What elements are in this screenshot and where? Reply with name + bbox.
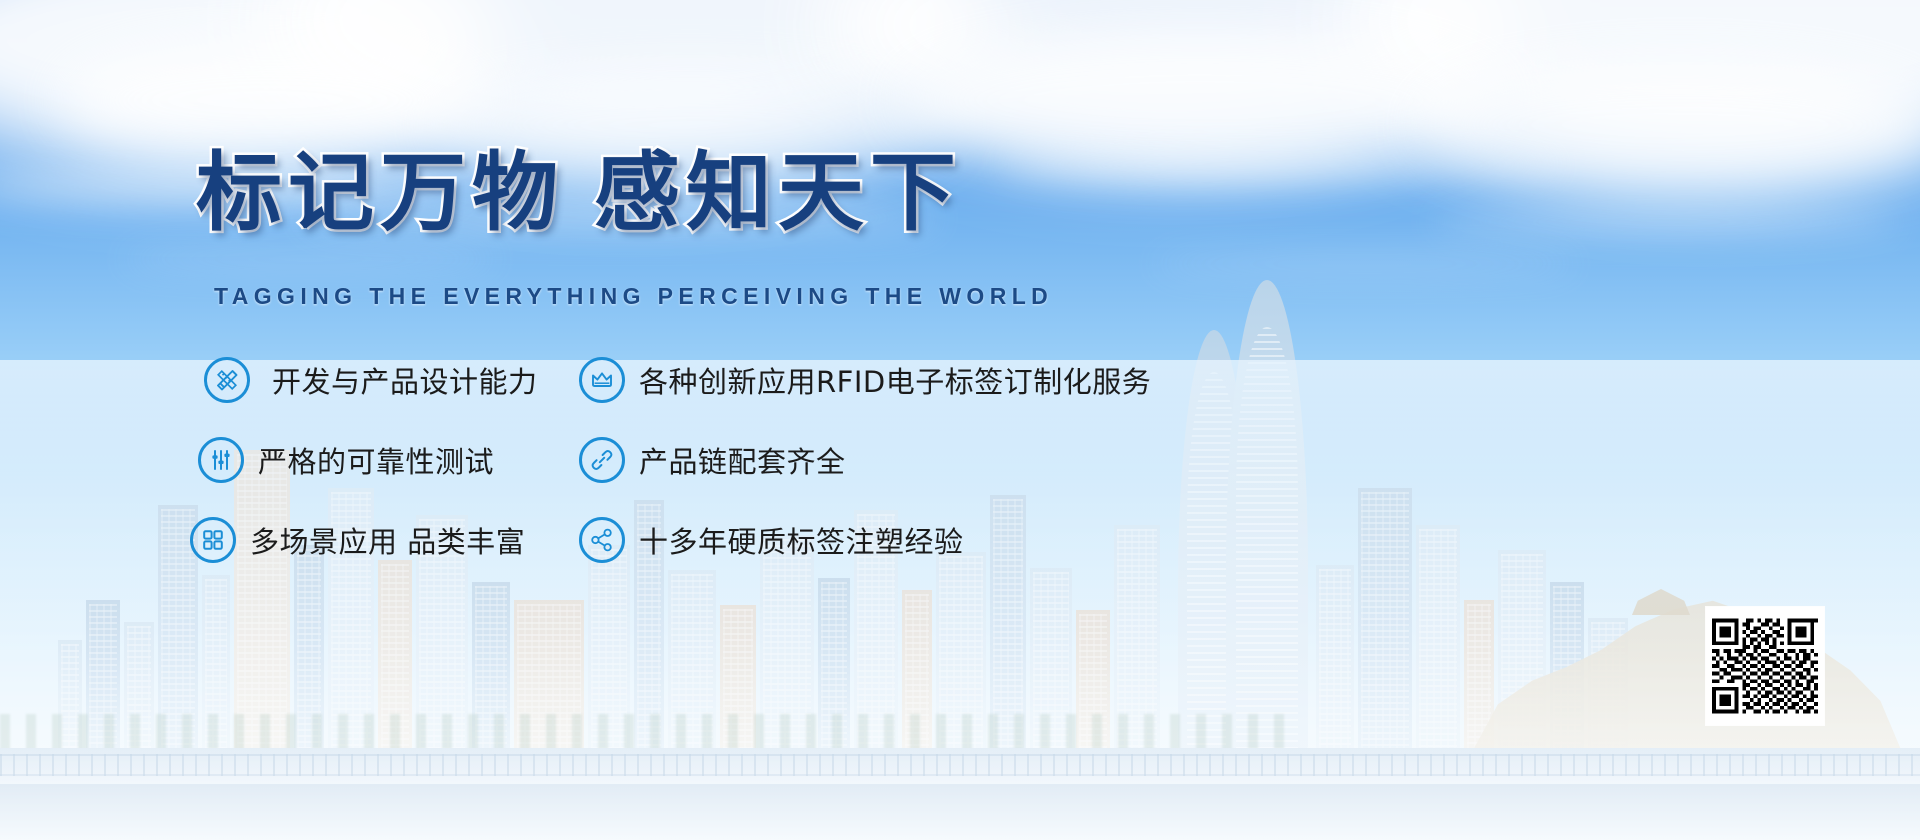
feature-label: 严格的可靠性测试 [258, 439, 494, 481]
subtitle-english: TAGGING THE EVERYTHING PERCEIVING THE WO… [214, 283, 1053, 310]
feature-item-reliability-test: 严格的可靠性测试 [190, 432, 565, 488]
qr-code-container[interactable] [1706, 607, 1824, 725]
feature-label: 十多年硬质标签注塑经验 [639, 519, 964, 561]
link-chain-icon [579, 437, 625, 483]
sliders-icon [198, 437, 244, 483]
share-network-icon [579, 517, 625, 563]
feature-item-multi-scenario: 多场景应用 品类丰富 [190, 512, 565, 568]
qr-code[interactable] [1712, 613, 1818, 719]
feature-item-design: 开发与产品设计能力 [190, 352, 565, 408]
crown-icon [579, 357, 625, 403]
feature-item-injection-experience: 十多年硬质标签注塑经验 [565, 512, 1310, 568]
feature-label: 产品链配套齐全 [639, 439, 846, 481]
feature-list: 开发与产品设计能力 各种创新应用RFID电子标签订制化服务 [190, 352, 1310, 592]
ruler-pencil-icon [204, 357, 250, 403]
feature-item-rfid-service: 各种创新应用RFID电子标签订制化服务 [565, 352, 1310, 408]
feature-label: 各种创新应用RFID电子标签订制化服务 [639, 359, 1151, 401]
grid-squares-icon [190, 517, 236, 563]
feature-label: 多场景应用 品类丰富 [250, 519, 525, 561]
page-title: 标记万物 感知天下 [196, 150, 962, 236]
feature-label: 开发与产品设计能力 [272, 359, 538, 401]
feature-item-product-chain: 产品链配套齐全 [565, 432, 1310, 488]
promo-banner: 标记万物 感知天下 TAGGING THE EVERYTHING PERCEIV… [0, 0, 1920, 840]
